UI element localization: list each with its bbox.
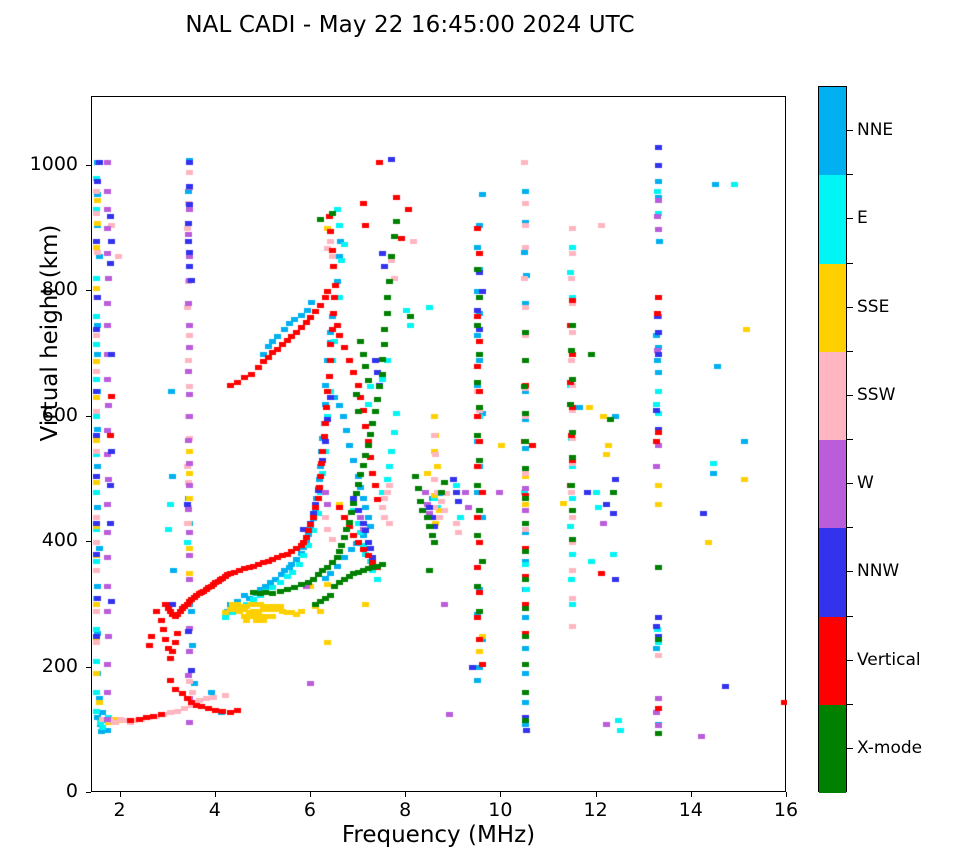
colorbar-segment-nnw[interactable] bbox=[819, 528, 846, 616]
colorbar-boundary-tick bbox=[847, 616, 853, 617]
x-axis-label: Frequency (MHz) bbox=[91, 822, 786, 848]
page-title: NAL CADI - May 22 16:45:00 2024 UTC bbox=[0, 12, 820, 38]
x-tick-label: 16 bbox=[756, 799, 816, 821]
x-tick-mark bbox=[786, 792, 787, 797]
colorbar-label-nnw: NNW bbox=[857, 561, 899, 581]
x-tick-mark bbox=[215, 792, 216, 797]
colorbar-label-w: W bbox=[857, 473, 874, 493]
colorbar-tick bbox=[847, 571, 853, 572]
y-tick-label: 200 bbox=[8, 655, 78, 677]
y-tick-label: 0 bbox=[8, 780, 78, 802]
x-tick-mark bbox=[691, 792, 692, 797]
x-tick-label: 12 bbox=[566, 799, 626, 821]
colorbar-boundary-tick bbox=[847, 527, 853, 528]
y-tick-mark bbox=[86, 416, 91, 417]
colorbar-tick bbox=[847, 748, 853, 749]
x-tick-mark bbox=[310, 792, 311, 797]
x-tick-mark bbox=[120, 792, 121, 797]
y-tick-mark bbox=[86, 165, 91, 166]
colorbar-label-x-mode: X-mode bbox=[857, 738, 922, 758]
colorbar-segment-vertical[interactable] bbox=[819, 617, 846, 705]
colorbar-label-ssw: SSW bbox=[857, 385, 895, 405]
colorbar-segment-e[interactable] bbox=[819, 175, 846, 263]
colorbar-segment-w[interactable] bbox=[819, 440, 846, 528]
colorbar-tick bbox=[847, 218, 853, 219]
ionogram-figure: NAL CADI - May 22 16:45:00 2024 UTC 2468… bbox=[0, 0, 958, 857]
colorbar-tick bbox=[847, 483, 853, 484]
x-tick-mark bbox=[500, 792, 501, 797]
colorbar-boundary-tick bbox=[847, 174, 853, 175]
x-tick-label: 10 bbox=[470, 799, 530, 821]
colorbar-segment-ssw[interactable] bbox=[819, 352, 846, 440]
x-tick-mark bbox=[405, 792, 406, 797]
x-tick-label: 6 bbox=[280, 799, 340, 821]
colorbar-boundary-tick bbox=[847, 439, 853, 440]
colorbar-label-e: E bbox=[857, 208, 868, 228]
colorbar-label-nne: NNE bbox=[857, 120, 893, 140]
y-tick-mark bbox=[86, 792, 91, 793]
y-tick-mark bbox=[86, 290, 91, 291]
colorbar-segment-x-mode[interactable] bbox=[819, 705, 846, 793]
colorbar[interactable] bbox=[818, 86, 847, 792]
colorbar-label-vertical: Vertical bbox=[857, 650, 921, 670]
x-tick-mark bbox=[596, 792, 597, 797]
colorbar-tick bbox=[847, 130, 853, 131]
colorbar-boundary-tick bbox=[847, 351, 853, 352]
x-tick-label: 8 bbox=[375, 799, 435, 821]
y-tick-mark bbox=[86, 667, 91, 668]
colorbar-tick bbox=[847, 307, 853, 308]
colorbar-boundary-tick bbox=[847, 263, 853, 264]
colorbar-segment-sse[interactable] bbox=[819, 264, 846, 352]
x-tick-label: 14 bbox=[661, 799, 721, 821]
x-tick-label: 2 bbox=[90, 799, 150, 821]
colorbar-tick bbox=[847, 660, 853, 661]
plot-area[interactable] bbox=[91, 96, 786, 792]
y-tick-mark bbox=[86, 541, 91, 542]
colorbar-segment-nne[interactable] bbox=[819, 87, 846, 175]
colorbar-label-sse: SSE bbox=[857, 297, 889, 317]
y-axis-label: Virtual height (km) bbox=[37, 143, 63, 523]
colorbar-tick bbox=[847, 395, 853, 396]
y-tick-label: 400 bbox=[8, 529, 78, 551]
colorbar-boundary-tick bbox=[847, 704, 853, 705]
scatter-canvas bbox=[92, 97, 787, 793]
x-tick-label: 4 bbox=[185, 799, 245, 821]
